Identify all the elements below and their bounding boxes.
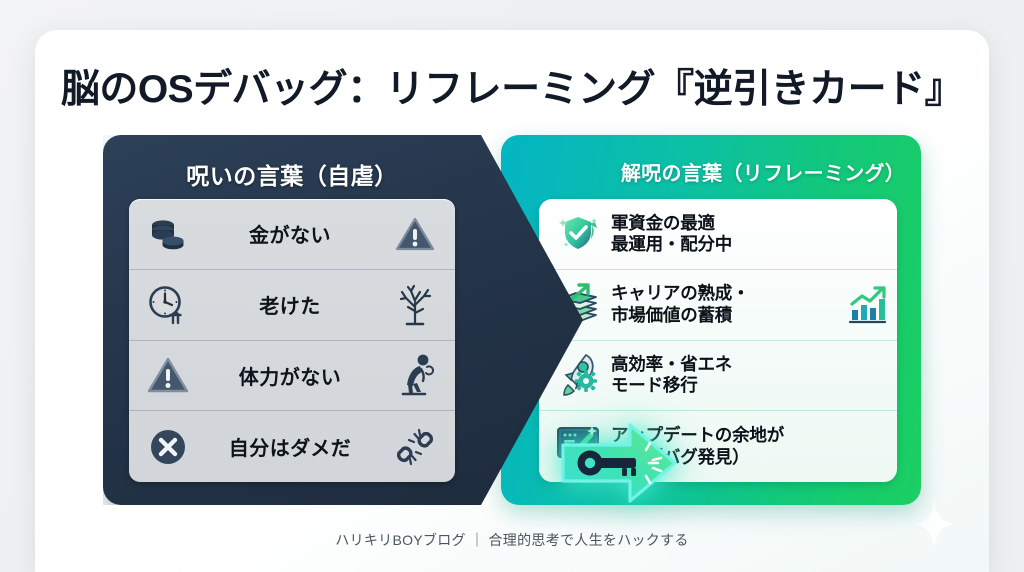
list-item[interactable]: 体力がない <box>129 341 455 412</box>
list-item-label: 高効率・省エネ モード移行 <box>607 354 889 397</box>
list-item-label: キャリアの熟成・ 市場価値の蓄積 <box>607 283 845 326</box>
list-item-label: 金がない <box>193 219 387 248</box>
clock-icon <box>143 285 193 325</box>
list-item[interactable]: 高効率・省エネ モード移行 <box>539 341 897 412</box>
shield-check-icon <box>549 209 607 259</box>
list-item-line2: モード移行 <box>611 375 698 395</box>
curse-words-panel: 呪いの言葉（自虐） <box>103 135 583 505</box>
coins-icon <box>143 217 193 251</box>
list-item[interactable]: キャリアの熟成・ 市場価値の蓄積 <box>539 270 897 341</box>
list-item-label: 老けた <box>193 290 387 319</box>
warning-triangle-icon <box>143 356 193 394</box>
list-item-line1: 高効率・省エネ <box>611 354 732 374</box>
list-item-line1: 軍資金の最適 <box>611 213 715 233</box>
footer-credit: ハリキリBOYブログ ｜ 合理的思考で人生をハックする <box>35 530 989 550</box>
list-item[interactable]: 自分はダメだ <box>129 411 455 482</box>
warning-triangle-icon <box>387 216 443 252</box>
comparison-panels: 呪いの言葉（自虐） <box>103 135 921 505</box>
list-item-label: 軍資金の最適 最運用・配分中 <box>607 213 889 256</box>
page-title: 脳のOSデバッグ：リフレーミング『逆引きカード』 <box>35 58 989 114</box>
list-item[interactable]: 軍資金の最適 最運用・配分中 <box>539 199 897 270</box>
x-circle-icon <box>143 427 193 467</box>
reframing-words-header: 解呪の言葉（リフレーミング） <box>613 157 913 186</box>
list-item-line1: キャリアの熟成・ <box>611 283 749 303</box>
list-item-line2: 最運用・配分中 <box>611 234 732 254</box>
list-item[interactable]: 金がない <box>129 199 455 270</box>
dead-tree-icon <box>387 283 443 327</box>
curse-words-header: 呪いの言葉（自虐） <box>103 157 481 191</box>
bar-chart-up-icon <box>845 285 889 325</box>
sparkle-icon <box>913 498 955 550</box>
infographic-canvas: 脳のOSデバッグ：リフレーミング『逆引きカード』 呪いの言葉（自虐） <box>35 30 989 572</box>
curse-words-list: 金がない <box>129 199 455 482</box>
list-item-label: 自分はダメだ <box>193 432 387 461</box>
key-arrow-icon <box>558 420 680 506</box>
list-item-label: 体力がない <box>193 361 387 390</box>
broken-chain-icon <box>387 426 443 468</box>
exhausted-person-icon <box>387 353 443 397</box>
list-item[interactable]: 老けた <box>129 270 455 341</box>
list-item-line2: 市場価値の蓄積 <box>611 305 732 325</box>
